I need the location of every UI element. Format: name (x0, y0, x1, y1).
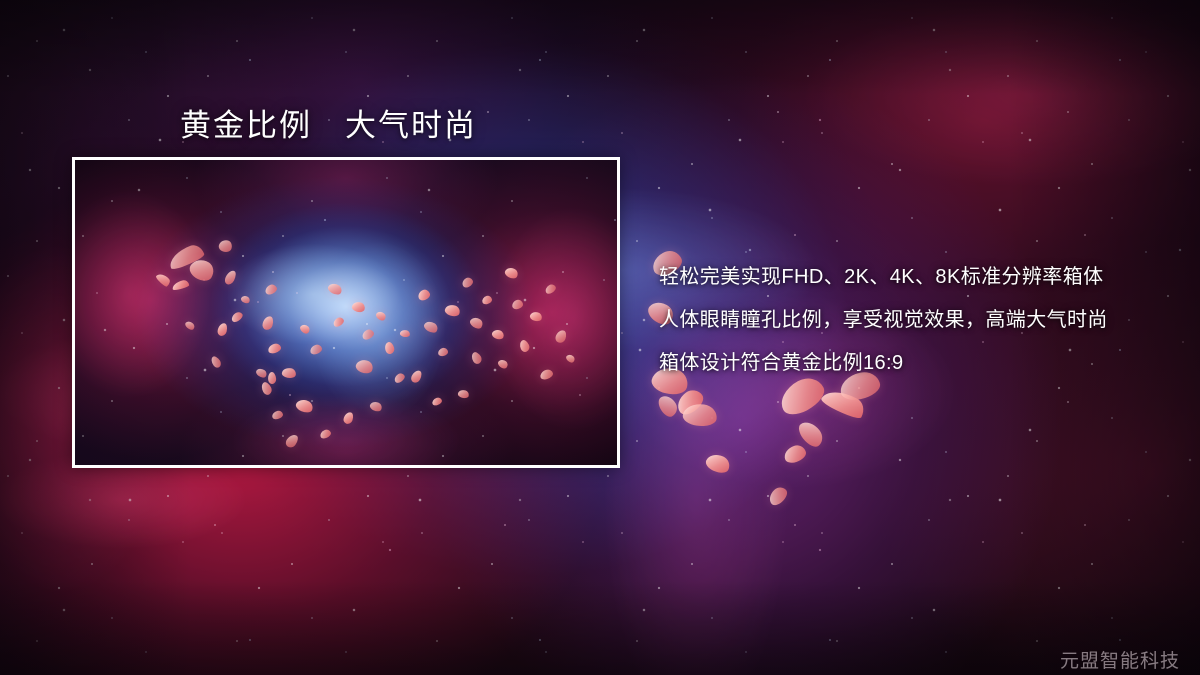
panel-vignette (75, 160, 617, 465)
body-line-2: 人体眼睛瞳孔比例，享受视觉效果，高端大气时尚 (659, 299, 1108, 342)
body-line-3: 箱体设计符合黄金比例16:9 (659, 342, 1108, 385)
body-text-block: 轻松完美实现FHD、2K、4K、8K标准分辨率箱体 人体眼睛瞳孔比例，享受视觉效… (659, 256, 1108, 385)
framed-display-panel[interactable] (72, 157, 620, 468)
watermark-label: 元盟智能科技 (1060, 646, 1180, 673)
presentation-slide: 黄金比例 大气时尚 轻松完美实现FHD、2K、4K、8K标准分辨率箱体 人体眼睛… (0, 0, 1200, 675)
body-line-1: 轻松完美实现FHD、2K、4K、8K标准分辨率箱体 (659, 256, 1108, 299)
page-title: 黄金比例 大气时尚 (180, 100, 477, 145)
